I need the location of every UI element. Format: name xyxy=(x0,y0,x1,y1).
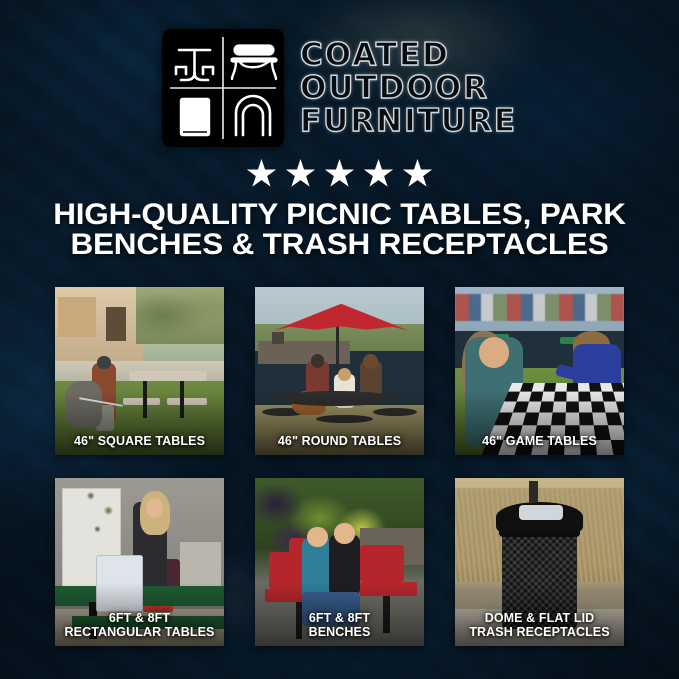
star-icon xyxy=(364,159,394,189)
tile-caption-line-1: 46" ROUND TABLES xyxy=(278,434,401,448)
tile-caption-line-1: DOME & FLAT LID xyxy=(485,611,595,625)
product-tile-grid: 46" SQUARE TABLES xyxy=(55,287,624,646)
product-tile-trash-receptacles[interactable]: DOME & FLAT LID TRASH RECEPTACLES xyxy=(455,478,624,646)
brand-wordmark: COATED OUTDOOR FURNITURE xyxy=(300,39,517,137)
star-icon xyxy=(247,159,277,189)
product-tile-benches[interactable]: 6FT & 8FT BENCHES xyxy=(255,478,424,646)
product-banner: COATED OUTDOOR FURNITURE HIGH-QUALITY PI… xyxy=(0,0,679,679)
brand-logo: COATED OUTDOOR FURNITURE xyxy=(0,28,679,148)
wordmark-line-1: COATED xyxy=(300,39,517,71)
tile-caption: 46" ROUND TABLES xyxy=(259,435,420,449)
product-tile-rectangular-tables[interactable]: 6FT & 8FT RECTANGULAR TABLES xyxy=(55,478,224,646)
tile-caption-line-2: BENCHES xyxy=(309,625,371,639)
tile-caption-line-2: RECTANGULAR TABLES xyxy=(65,625,215,639)
tile-caption-line-1: 46" SQUARE TABLES xyxy=(74,434,205,448)
headline-line-2: BENCHES & TRASH RECEPTACLES xyxy=(12,230,666,260)
logo-mark-icon xyxy=(162,29,284,147)
star-icon xyxy=(403,159,433,189)
tile-caption: 6FT & 8FT BENCHES xyxy=(259,612,420,639)
page-title: HIGH-QUALITY PICNIC TABLES, PARK BENCHES… xyxy=(12,200,666,260)
tile-caption: 6FT & 8FT RECTANGULAR TABLES xyxy=(59,612,220,639)
tile-caption-line-1: 6FT & 8FT xyxy=(309,611,370,625)
product-tile-round-tables[interactable]: 46" ROUND TABLES xyxy=(255,287,424,455)
star-icon xyxy=(325,159,355,189)
tile-caption: 46" GAME TABLES xyxy=(459,435,620,449)
tile-caption-line-1: 6FT & 8FT xyxy=(109,611,170,625)
wordmark-line-2: OUTDOOR xyxy=(300,72,517,104)
wordmark-line-3: FURNITURE xyxy=(300,105,517,137)
tile-caption-line-2: TRASH RECEPTACLES xyxy=(469,625,609,639)
star-icon xyxy=(286,159,316,189)
tile-caption: 46" SQUARE TABLES xyxy=(59,435,220,449)
product-tile-game-tables[interactable]: 46" GAME TABLES xyxy=(455,287,624,455)
product-tile-square-tables[interactable]: 46" SQUARE TABLES xyxy=(55,287,224,455)
star-rating xyxy=(0,158,679,190)
headline-line-1: HIGH-QUALITY PICNIC TABLES, PARK xyxy=(53,198,626,231)
tile-caption-line-1: 46" GAME TABLES xyxy=(482,434,597,448)
tile-caption: DOME & FLAT LID TRASH RECEPTACLES xyxy=(459,612,620,639)
